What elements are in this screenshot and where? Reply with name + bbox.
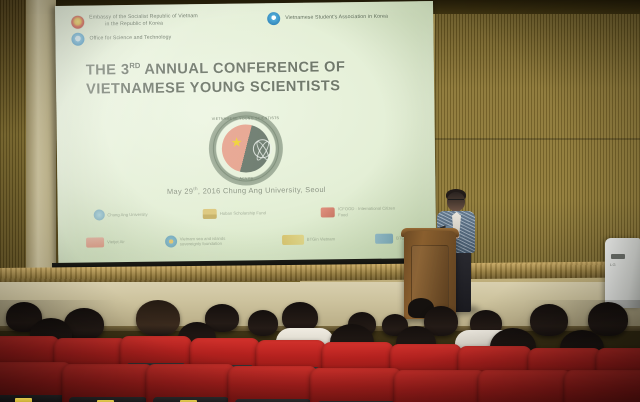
auditorium-seat: [62, 364, 154, 402]
organizer-vsak: Vietnamese Student's Association in Kore…: [267, 11, 388, 26]
hoban-logo-icon: [203, 208, 217, 218]
organizer-embassy-label: Embassy of the Socialist Republic of Vie…: [89, 13, 198, 20]
emblem-atom-icon: [253, 139, 272, 158]
glasses-icon: [448, 199, 464, 204]
icfood-logo-icon: [321, 207, 335, 217]
sponsor-icfood-label: ICFOOD - International Citizen Food: [338, 206, 400, 218]
conference-emblem: ★ VIETNAMESE YOUNG SCIENTISTS ACVYS: [208, 111, 283, 186]
organizer-embassy-sub: in the Republic of Korea: [89, 20, 198, 28]
audience-head: [136, 300, 180, 336]
organizer-science-office: Office for Science and Technology: [71, 28, 421, 46]
audience-head: [530, 304, 568, 336]
vsak-logo-icon: [267, 12, 280, 25]
date-prefix: May 29: [167, 187, 193, 196]
sponsor-icfood: ICFOOD - International Citizen Food: [321, 206, 400, 218]
organizer-vsak-label: Vietnamese Student's Association in Kore…: [285, 14, 388, 22]
title-line1-rest: ANNUAL CONFERENCE OF: [140, 59, 345, 78]
vietnam-emblem-icon: [71, 15, 84, 28]
auditorium-seat: [228, 366, 318, 402]
sponsor-vietjet: Vietjet Air: [86, 237, 125, 248]
slide-title: THE 3RD ANNUAL CONFERENCE OF VIETNAMESE …: [86, 57, 406, 100]
auditorium-seat: [394, 370, 486, 402]
audience-head: [588, 302, 628, 336]
btgin-vietnam-logo-icon: [282, 235, 304, 245]
ac-vent-icon: [611, 254, 625, 259]
sea-islands-logo-icon: [165, 235, 177, 247]
presentation-slide: Embassy of the Socialist Republic of Vie…: [55, 1, 436, 270]
sponsor-btgin-vietnam-label: BTGin Vietnam: [307, 237, 335, 243]
projection-screen: Embassy of the Socialist Republic of Vie…: [55, 1, 436, 270]
science-office-icon: [71, 33, 84, 46]
left-wall-wood: [0, 0, 26, 300]
emblem-text-bottom: ACVYS: [209, 176, 283, 181]
audience-area: [0, 300, 640, 402]
auditorium-seat: [310, 368, 402, 402]
vietjet-logo-icon: [86, 237, 104, 247]
emblem-text-top: VIETNAMESE YOUNG SCIENTISTS: [208, 116, 282, 121]
auditorium-seat: [478, 370, 572, 402]
sponsor-vietjet-label: Vietjet Air: [107, 239, 125, 245]
sponsor-cau: Chung Ang University: [93, 209, 147, 221]
sponsor-hoban-label: Hoban Scholarship Fund: [220, 210, 266, 216]
cau-logo-icon: [93, 209, 104, 220]
sponsor-row-1: Chung Ang University Hoban Scholarship F…: [66, 205, 428, 221]
organizer-science-office-label: Office for Science and Technology: [89, 34, 171, 42]
sponsor-sea-islands-label: Vietnam sea and islands sovereignty foun…: [180, 235, 242, 247]
sponsor-hoban: Hoban Scholarship Fund: [203, 208, 266, 219]
title-ordinal-suffix: RD: [129, 61, 140, 70]
date-rest: , 2016 Chung Ang University, Seoul: [198, 185, 326, 196]
sponsor-sea-islands: Vietnam sea and islands sovereignty foun…: [165, 235, 242, 248]
sponsor-row-2: Vietjet Air Vietnam sea and islands sove…: [66, 232, 428, 249]
audience-head: [248, 310, 278, 336]
sponsor-btgin-vietnam: BTGin Vietnam: [282, 234, 335, 245]
title-line1-prefix: THE 3: [86, 62, 130, 79]
auditorium-seat: [564, 370, 640, 402]
air-conditioner-unit: LG: [605, 238, 640, 308]
organizer-logos: Embassy of the Socialist Republic of Vie…: [71, 10, 421, 50]
title-line2: VIETNAMESE YOUNG SCIENTISTS: [86, 79, 341, 98]
btgin-logo-icon: [375, 234, 393, 244]
ac-brand-label: LG: [610, 262, 616, 267]
auditorium-seat: [146, 364, 236, 402]
conference-photo: Embassy of the Socialist Republic of Vie…: [0, 0, 640, 402]
slide-date-venue: May 29th, 2016 Chung Ang University, Seo…: [57, 183, 435, 197]
sponsor-cau-label: Chung Ang University: [107, 212, 147, 218]
